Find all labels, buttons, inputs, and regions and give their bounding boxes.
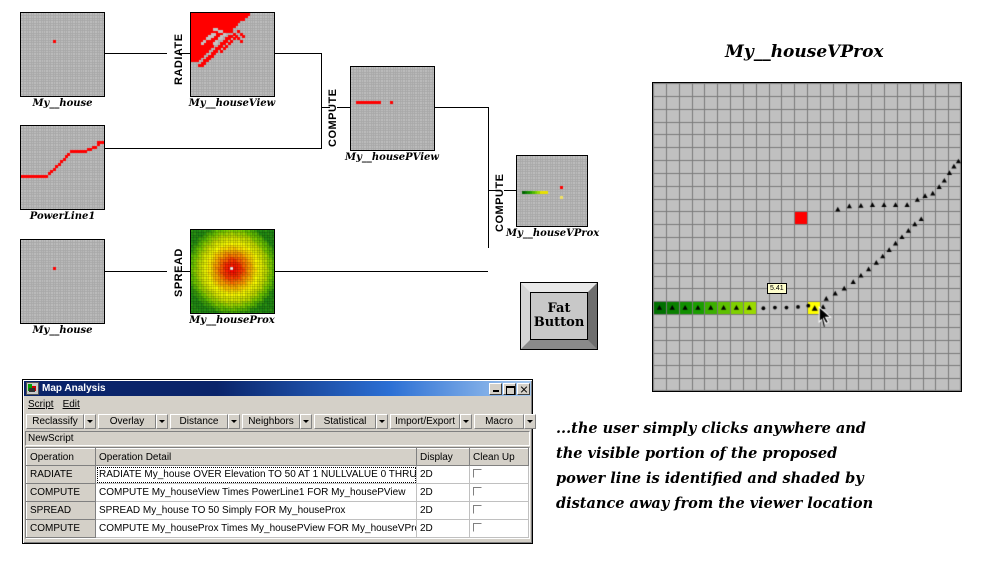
fat-button-line1: Fat xyxy=(548,302,571,316)
toolbar-dropdown-reclassify[interactable] xyxy=(84,414,96,429)
process-label-spread: SPREAD xyxy=(173,248,185,297)
big-map-title: My__houseVProx xyxy=(725,42,884,62)
connector-line xyxy=(337,107,351,108)
toolbar-group-overlay: Overlay xyxy=(98,414,168,429)
map-thumb-my-house-bottom[interactable] xyxy=(20,239,105,324)
column-header-operation[interactable]: Operation xyxy=(27,449,96,466)
chevron-down-icon xyxy=(231,420,237,423)
map-canvas xyxy=(351,67,434,150)
cell-clean-up[interactable] xyxy=(470,502,529,520)
window-title-bar[interactable]: Map Analysis xyxy=(24,381,531,396)
toolbar: Reclassify Overlay Distance Neighbors St… xyxy=(23,412,532,431)
map-canvas xyxy=(21,126,104,209)
caption-line-4: distance away from the viewer location xyxy=(556,491,873,516)
toolbar-button-statistical[interactable]: Statistical xyxy=(314,414,376,429)
connector-line xyxy=(104,53,167,54)
menu-item-script[interactable]: Script xyxy=(28,399,54,410)
toolbar-dropdown-neighbors[interactable] xyxy=(300,414,312,429)
map-thumb-label-my-houseprox: My__houseProx xyxy=(186,315,278,326)
connector-line xyxy=(488,107,489,248)
cell-display[interactable]: 2D xyxy=(417,520,470,538)
menu-item-script-label: Script xyxy=(28,399,54,410)
cleanup-checkbox[interactable] xyxy=(473,469,482,478)
toolbar-button-overlay[interactable]: Overlay xyxy=(98,414,156,429)
cell-clean-up[interactable] xyxy=(470,520,529,538)
toolbar-dropdown-overlay[interactable] xyxy=(156,414,168,429)
big-map-canvas[interactable] xyxy=(653,83,961,391)
process-label-compute-2: COMPUTE xyxy=(494,174,506,233)
script-name-bar[interactable]: NewScript xyxy=(25,431,530,446)
map-thumb-my-housevprox[interactable] xyxy=(516,155,588,227)
map-thumb-label-my-house-top: My__house xyxy=(20,98,105,109)
menu-item-edit-label: Edit xyxy=(63,399,80,410)
column-header-operation-detail[interactable]: Operation Detail xyxy=(96,449,417,466)
caption-line-3: power line is identified and shaded by xyxy=(556,466,864,491)
toolbar-dropdown-distance[interactable] xyxy=(228,414,240,429)
caption-line-2: the visible portion of the proposed xyxy=(556,441,837,466)
chevron-down-icon xyxy=(303,420,309,423)
chevron-down-icon xyxy=(379,420,385,423)
cell-display[interactable]: 2D xyxy=(417,484,470,502)
chevron-down-icon xyxy=(463,420,469,423)
menu-item-edit[interactable]: Edit xyxy=(63,399,80,410)
cleanup-checkbox[interactable] xyxy=(473,487,482,496)
cell-operation[interactable]: RADIATE xyxy=(27,466,96,484)
column-header-display[interactable]: Display xyxy=(417,449,470,466)
process-label-compute-1: COMPUTE xyxy=(327,89,339,148)
cell-operation-detail[interactable]: RADIATE My_house OVER Elevation TO 50 AT… xyxy=(96,466,417,484)
cell-operation-detail[interactable]: SPREAD My_house TO 50 Simply FOR My_hous… xyxy=(96,502,417,520)
map-thumb-label-my-houseview: My__houseView xyxy=(186,98,278,109)
window-controls xyxy=(489,383,530,395)
table-row[interactable]: COMPUTECOMPUTE My_houseProx Times My_hou… xyxy=(27,520,529,538)
map-canvas xyxy=(517,156,587,226)
fat-button-face: Fat Button xyxy=(530,292,588,340)
map-canvas xyxy=(21,240,104,323)
caption-line-1: ...the user simply clicks anywhere and xyxy=(556,416,866,441)
cell-clean-up[interactable] xyxy=(470,466,529,484)
toolbar-dropdown-macro[interactable] xyxy=(524,414,536,429)
process-label-radiate: RADIATE xyxy=(173,33,185,85)
cell-display[interactable]: 2D xyxy=(417,502,470,520)
value-tooltip: 5.41 xyxy=(767,283,787,294)
toolbar-button-macro[interactable]: Macro xyxy=(474,414,524,429)
fat-button[interactable]: Fat Button xyxy=(521,283,597,349)
connector-line xyxy=(434,107,488,108)
cell-clean-up[interactable] xyxy=(470,484,529,502)
map-thumb-label-my-housepview: My__housePView xyxy=(345,152,439,163)
table-row[interactable]: RADIATERADIATE My_house OVER Elevation T… xyxy=(27,466,529,484)
cleanup-checkbox[interactable] xyxy=(473,505,482,514)
toolbar-group-neighbors: Neighbors xyxy=(242,414,312,429)
map-canvas xyxy=(191,13,274,96)
script-table: Operation Operation Detail Display Clean… xyxy=(26,448,529,538)
script-name-label: NewScript xyxy=(28,433,74,444)
big-map[interactable] xyxy=(652,82,962,392)
connector-line xyxy=(104,148,322,149)
menu-bar: Script Edit xyxy=(23,397,532,412)
map-thumb-label-powerline1: PowerLine1 xyxy=(20,211,105,222)
map-analysis-window[interactable]: Map Analysis Script Edit Reclassify Over… xyxy=(22,379,533,544)
toolbar-button-import-export[interactable]: Import/Export xyxy=(390,414,460,429)
map-canvas xyxy=(21,13,104,96)
toolbar-button-distance[interactable]: Distance xyxy=(170,414,228,429)
cell-operation[interactable]: COMPUTE xyxy=(27,484,96,502)
minimize-button[interactable] xyxy=(489,383,502,395)
table-row[interactable]: SPREADSPREAD My_house TO 50 Simply FOR M… xyxy=(27,502,529,520)
map-thumb-label-my-housevprox: My__houseVProx xyxy=(506,228,598,239)
maximize-button[interactable] xyxy=(503,383,516,395)
map-thumb-my-housepview[interactable] xyxy=(350,66,435,151)
cell-operation[interactable]: SPREAD xyxy=(27,502,96,520)
cell-operation-detail[interactable]: COMPUTE My_houseProx Times My_housePView… xyxy=(96,520,417,538)
toolbar-dropdown-import-export[interactable] xyxy=(460,414,472,429)
script-table-wrapper[interactable]: Operation Operation Detail Display Clean… xyxy=(25,447,530,539)
map-canvas xyxy=(191,230,274,313)
toolbar-group-distance: Distance xyxy=(170,414,240,429)
chevron-down-icon xyxy=(527,420,533,423)
toolbar-group-macro: Macro xyxy=(474,414,536,429)
toolbar-group-import-export: Import/Export xyxy=(390,414,472,429)
table-row[interactable]: COMPUTECOMPUTE My_houseView Times PowerL… xyxy=(27,484,529,502)
cell-operation[interactable]: COMPUTE xyxy=(27,520,96,538)
toolbar-group-reclassify: Reclassify xyxy=(26,414,96,429)
connector-line xyxy=(274,271,488,272)
toolbar-button-neighbors[interactable]: Neighbors xyxy=(242,414,300,429)
map-thumb-my-houseprox[interactable] xyxy=(190,229,275,314)
close-button[interactable] xyxy=(517,383,530,395)
map-thumb-label-my-house-bottom: My__house xyxy=(20,325,105,336)
map-thumb-powerline1[interactable] xyxy=(20,125,105,210)
column-header-clean-up[interactable]: Clean Up xyxy=(470,449,529,466)
window-title-text: Map Analysis xyxy=(42,383,489,394)
toolbar-dropdown-statistical[interactable] xyxy=(376,414,388,429)
chevron-down-icon xyxy=(159,420,165,423)
map-analysis-icon xyxy=(26,382,39,395)
map-thumb-my-house-top[interactable] xyxy=(20,12,105,97)
cell-display[interactable]: 2D xyxy=(417,466,470,484)
connector-line xyxy=(274,53,321,54)
table-header-row: Operation Operation Detail Display Clean… xyxy=(27,449,529,466)
map-thumb-my-houseview[interactable] xyxy=(190,12,275,97)
connector-line xyxy=(321,53,322,148)
cleanup-checkbox[interactable] xyxy=(473,523,482,532)
toolbar-group-statistical: Statistical xyxy=(314,414,388,429)
fat-button-line2: Button xyxy=(534,316,585,330)
cell-operation-detail[interactable]: COMPUTE My_houseView Times PowerLine1 FO… xyxy=(96,484,417,502)
toolbar-button-reclassify[interactable]: Reclassify xyxy=(26,414,84,429)
chevron-down-icon xyxy=(87,420,93,423)
connector-line xyxy=(104,271,167,272)
